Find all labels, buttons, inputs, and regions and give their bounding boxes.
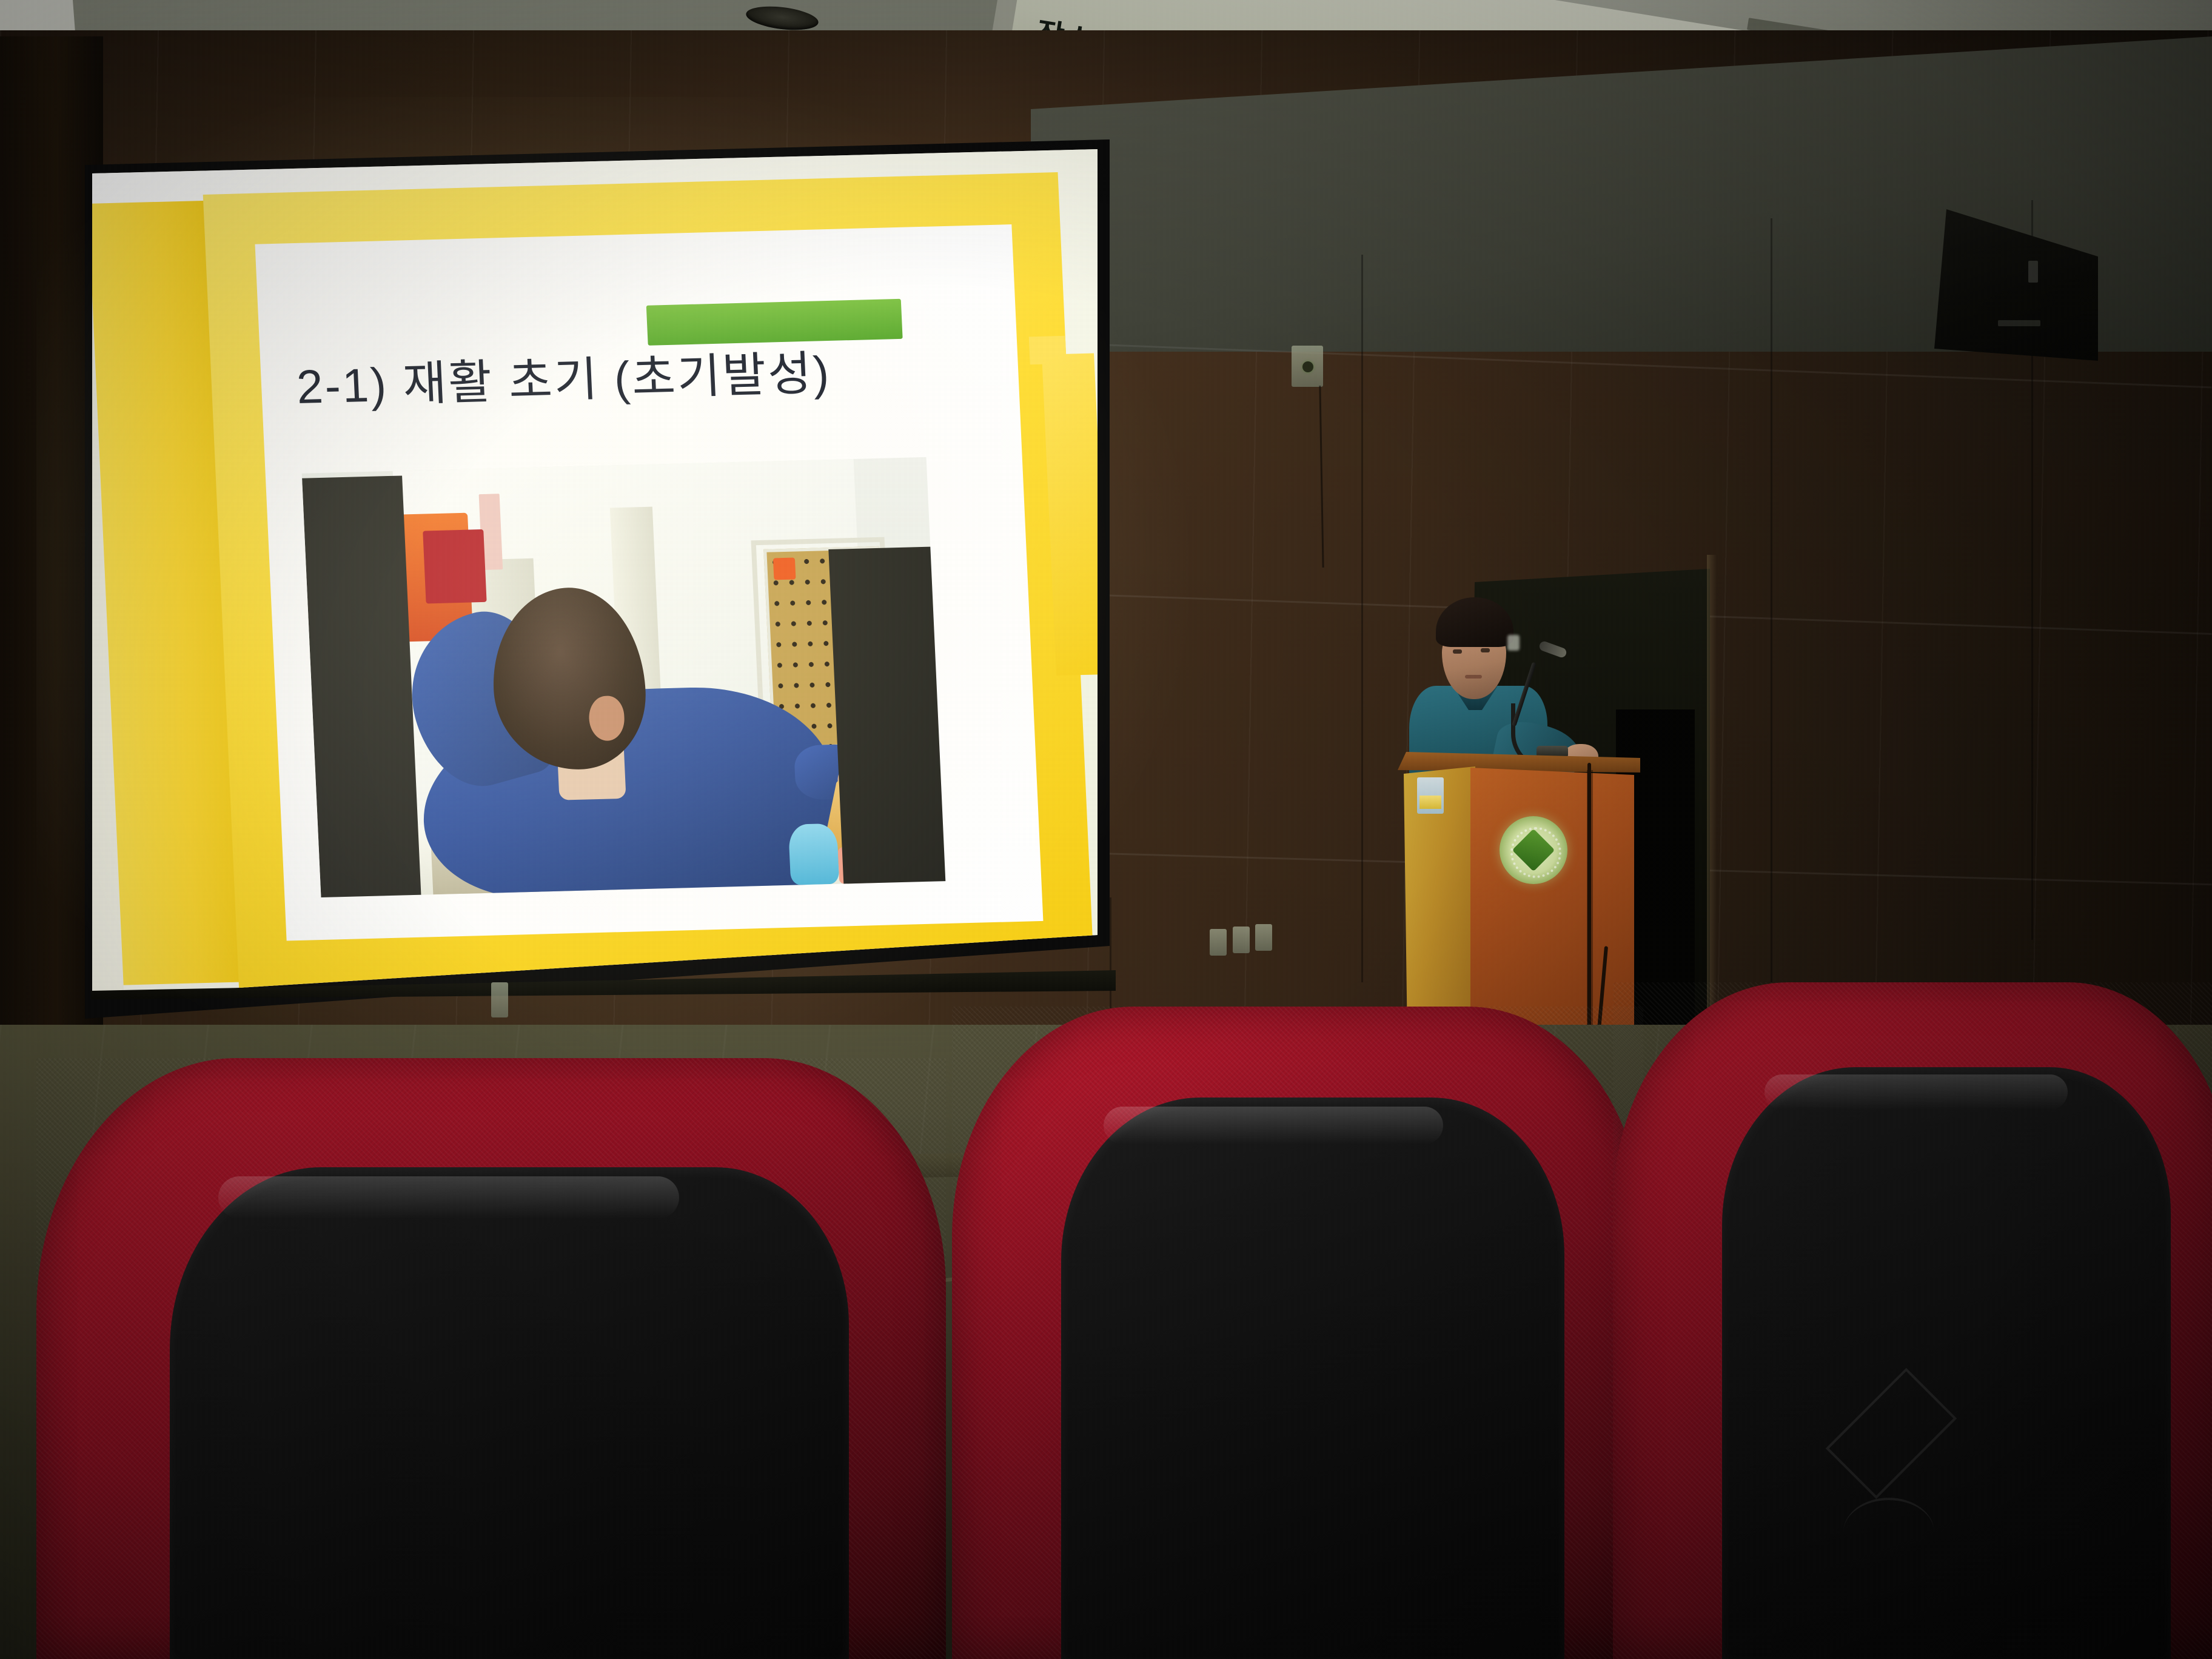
projection-screen: 2-1) 재활 초기 (초기발성) bbox=[92, 149, 1098, 1003]
wall-sensor-plate bbox=[1292, 346, 1323, 387]
wall-switch-plate[interactable] bbox=[1255, 924, 1272, 951]
presentation-hall-photo: 장소 : 세월관 주최 : 대구대학교 언어치료임상센터 장소 : 세월관 대강… bbox=[0, 0, 2212, 1659]
slide-photo bbox=[302, 457, 946, 897]
seat-highlight bbox=[218, 1176, 679, 1219]
seat-highlight bbox=[1765, 1074, 2068, 1110]
university-emblem-icon bbox=[1500, 816, 1567, 884]
presenter-eye bbox=[1481, 648, 1490, 652]
speaker-highlight bbox=[2028, 261, 2038, 283]
auditorium-seat[interactable] bbox=[36, 1058, 946, 1659]
podium-top-surface bbox=[1398, 752, 1640, 773]
auditorium-seat[interactable] bbox=[952, 1007, 1643, 1659]
presenter-eye bbox=[1453, 649, 1462, 654]
screen-control-plate[interactable] bbox=[491, 982, 508, 1017]
glasses-glint bbox=[1507, 635, 1520, 651]
wall-switch-plate[interactable] bbox=[1210, 929, 1227, 956]
podium-sticker bbox=[1417, 777, 1444, 814]
slide-card: 2-1) 재활 초기 (초기발성) bbox=[255, 224, 1043, 940]
slide-title: 2-1) 재활 초기 (초기발성) bbox=[295, 331, 989, 417]
seat-highlight bbox=[1104, 1107, 1443, 1144]
wall-seam bbox=[1361, 255, 1363, 982]
presenter-mouth bbox=[1465, 675, 1482, 679]
presenter-hair bbox=[1436, 597, 1513, 647]
slide-content: 2-1) 재활 초기 (초기발성) bbox=[92, 149, 1098, 1003]
wall-switch-plate[interactable] bbox=[1233, 927, 1250, 953]
wall-seam bbox=[1771, 218, 1772, 982]
seat-embossed-logo-icon bbox=[1807, 1376, 1971, 1577]
speaker-label bbox=[1998, 320, 2040, 326]
seat-back-panel bbox=[170, 1167, 849, 1659]
seat-back-panel bbox=[1061, 1098, 1564, 1659]
